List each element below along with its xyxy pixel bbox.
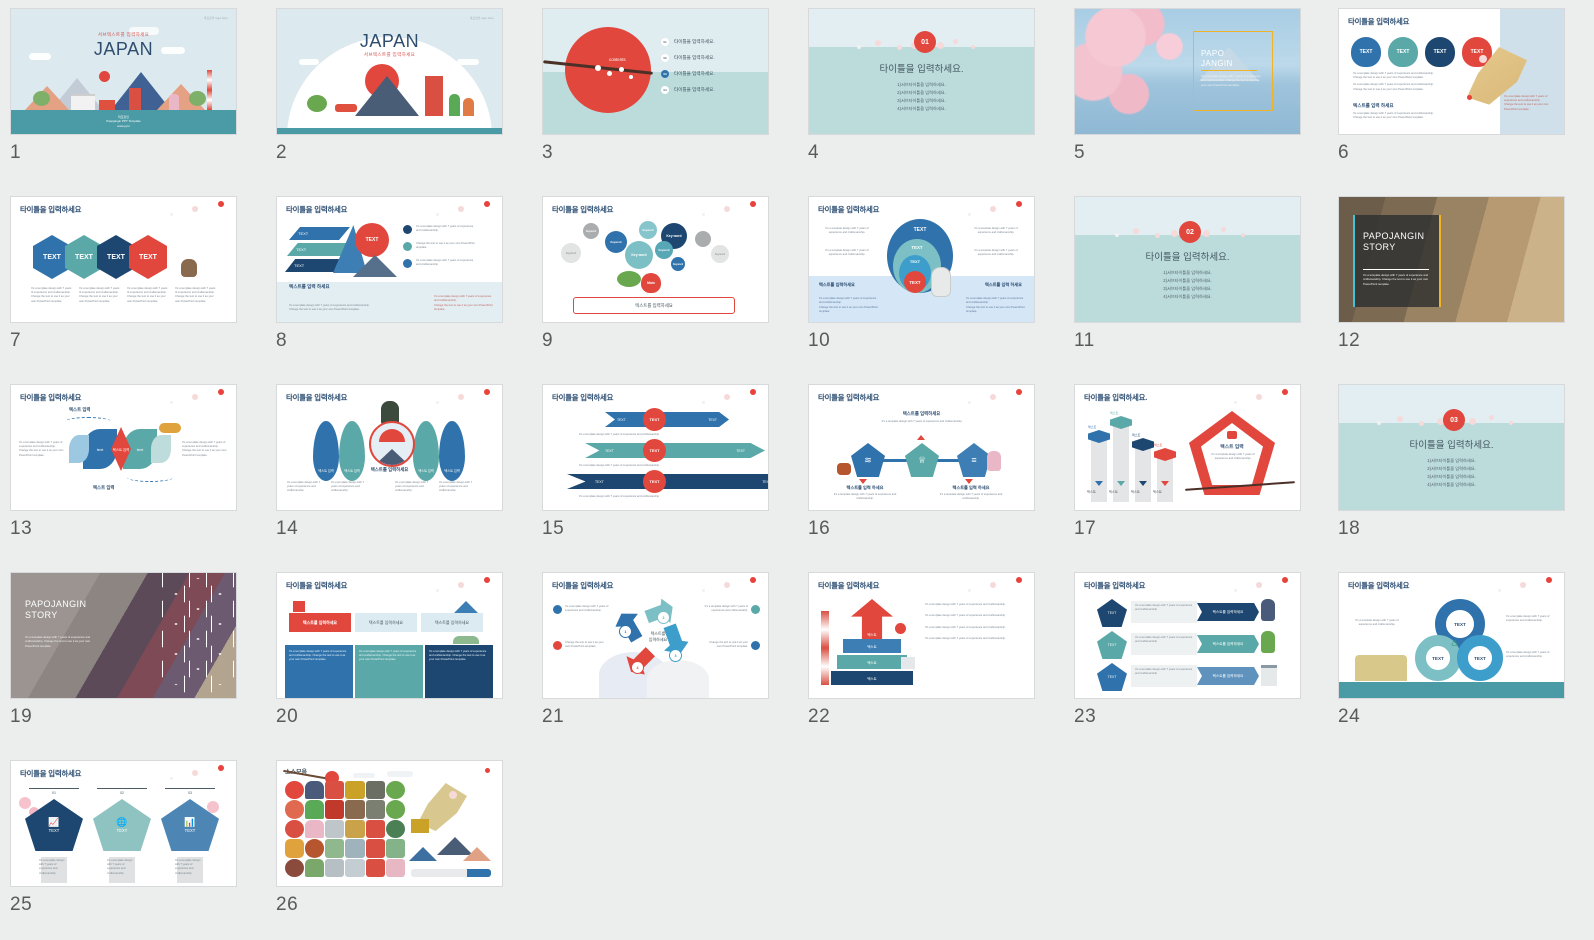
blossom-icon bbox=[953, 39, 958, 44]
recycle-icon: ♺ bbox=[1451, 639, 1458, 648]
blossom-icon bbox=[1256, 394, 1262, 400]
slide-number: 9 bbox=[542, 330, 553, 352]
blossom-icon bbox=[990, 206, 996, 212]
slide-cell-9[interactable]: 타이틀을 입력하세요 Key word Key word Keyword Key… bbox=[532, 188, 798, 376]
pentagon-badge[interactable]: TEXT bbox=[1097, 599, 1127, 627]
bullet-item: Change the text to use it as your own Po… bbox=[1353, 88, 1457, 92]
blossom-icon bbox=[436, 401, 439, 404]
pentagon-body: It's a template design with 7 years of e… bbox=[1207, 453, 1259, 461]
banner[interactable]: 텍스트를 입력하세요 bbox=[1197, 667, 1259, 685]
tab-item[interactable]: 텍스트를 입력하세요 bbox=[355, 613, 417, 632]
slide-title: 타이틀을 입력하세요 bbox=[1348, 580, 1409, 591]
torii-gate-icon bbox=[345, 781, 364, 799]
slide-number: 13 bbox=[10, 518, 32, 540]
pentagon-badge[interactable]: TEXT bbox=[1097, 663, 1127, 691]
koinobori-icon bbox=[285, 839, 304, 857]
arrow-down-icon bbox=[965, 479, 973, 484]
bullet-item: Change the text to use it as your own Po… bbox=[1504, 103, 1560, 111]
caption-item: It's a template design with 7 years of e… bbox=[79, 287, 121, 304]
blossom-cluster bbox=[152, 201, 232, 223]
blossom-icon bbox=[971, 45, 975, 49]
slide-number: 15 bbox=[542, 518, 564, 540]
castle-icon bbox=[901, 657, 915, 669]
blossom-icon bbox=[607, 71, 612, 76]
contents-item-number: 01 bbox=[661, 38, 669, 46]
blossom-icon bbox=[1221, 227, 1226, 232]
blossom-icon bbox=[990, 582, 996, 588]
bar-center-badge[interactable]: TEXT bbox=[643, 470, 666, 493]
slide-cell-5[interactable]: PAPO JANGIN It's a template design with … bbox=[1064, 0, 1330, 188]
slide-cell-21[interactable]: 타이틀을 입력하세요 1 2 3 4 텍스트를 입력하세요 It bbox=[532, 564, 798, 752]
left-item: Change the text to use it as your own Po… bbox=[553, 641, 609, 650]
blossom-icon bbox=[702, 589, 705, 592]
bullet-item: It's a template design with 7 years of e… bbox=[925, 626, 1021, 630]
cover-footer: 파포장인 Papojangin PPT Template www.pj.kr bbox=[11, 115, 236, 129]
sub-keyword-bubble[interactable]: Keyword bbox=[655, 241, 673, 259]
slide-title: 타이틀을 입력하세요 bbox=[818, 580, 879, 591]
bridge-icon bbox=[325, 820, 344, 838]
torii-gate-icon bbox=[293, 601, 305, 612]
sub-keyword-bubble[interactable]: Keyword bbox=[639, 221, 657, 239]
item-number: 02 bbox=[97, 788, 147, 795]
mountain-silhouette bbox=[647, 660, 709, 698]
contents-label: contents bbox=[609, 57, 626, 62]
daruma-icon bbox=[305, 781, 324, 799]
contents-item-number: 04 bbox=[661, 86, 669, 94]
slide-thumbnail-26[interactable]: 소스모음 bbox=[276, 760, 503, 887]
tab-item[interactable]: 텍스트를 입력하세요 bbox=[421, 613, 483, 632]
blossom-icon bbox=[484, 389, 490, 395]
cloud-icon bbox=[457, 59, 479, 65]
slide-thumbnail-1[interactable]: 파포장인 logo here 서브텍스트를 입력하세요 JAPAN 파포장인 P… bbox=[10, 8, 237, 135]
item-number: 03 bbox=[165, 788, 215, 795]
temple-icon bbox=[1355, 655, 1407, 681]
blossom-icon bbox=[1016, 389, 1022, 395]
pagoda-icon bbox=[366, 781, 385, 799]
fuji-circle-icon bbox=[285, 800, 304, 818]
caption-box[interactable]: 텍스트를 입력하세요 bbox=[573, 297, 735, 314]
photo-heading-line1: PAPO bbox=[1201, 49, 1224, 58]
slide-thumbnail-22[interactable]: 타이틀을 입력하세요 텍스트 텍스트 텍스트 텍스트 It's a templa… bbox=[808, 572, 1035, 699]
contents-item[interactable]: 04 타이틀을 입력하세요. bbox=[661, 82, 715, 98]
castle-icon bbox=[1261, 665, 1277, 686]
bullet-item: Change the text to use it as your own Po… bbox=[182, 449, 230, 457]
slide-number: 20 bbox=[276, 706, 298, 728]
blossom-icon bbox=[1234, 401, 1237, 404]
photo-heading-line1: PAPOJANGIN bbox=[25, 599, 86, 609]
pyramid-level[interactable]: 텍스트 bbox=[851, 599, 893, 641]
right-item-text: Change the text to use it as your own Po… bbox=[416, 242, 476, 250]
slide-thumbnail-18[interactable]: 03 타이틀을 입력하세요. 1)서브타이틀을 입력하세요. 2)서브타이틀을 … bbox=[1338, 384, 1565, 511]
slide-cell-20[interactable]: 타이틀을 입력하세요 텍스트를 입력하세요 텍스트를 입력하세요 텍스트를 입력… bbox=[266, 564, 532, 752]
slide-cell-24[interactable]: 타이틀을 입력하세요 TEXT TEXT TEXT ♺ It's a templ… bbox=[1328, 564, 1594, 752]
bar-note: It's a template design with 7 years of e… bbox=[579, 464, 729, 468]
blossom-icon bbox=[1419, 421, 1424, 426]
caption-item: It's a template design with 7 years of e… bbox=[127, 287, 169, 304]
slide-number: 12 bbox=[1338, 330, 1360, 352]
photo-body: It's a template design with 7 years of e… bbox=[25, 635, 97, 648]
slide-thumbnail-20[interactable]: 타이틀을 입력하세요 텍스트를 입력하세요 텍스트를 입력하세요 텍스트를 입력… bbox=[276, 572, 503, 699]
bar-left-label: TEXT bbox=[605, 449, 614, 453]
blossom-cluster bbox=[684, 577, 764, 599]
slide-cell-7[interactable]: 타이틀을 입력하세요 TEXT TEXT TEXT TEXT It's a te… bbox=[0, 188, 266, 376]
sub-keyword-bubble[interactable] bbox=[695, 231, 711, 247]
balloon-item[interactable]: TEXT bbox=[1351, 37, 1381, 67]
divider-list-item: 2)서브타이틀을 입력하세요. bbox=[1339, 465, 1564, 473]
contents-item-label: 타이틀을 입력하세요. bbox=[674, 87, 715, 93]
slide-cell-25[interactable]: 타이틀을 입력하세요 01 📈 TEXT It's a template des… bbox=[0, 752, 266, 940]
bullet-item: It's a template design with 7 years of e… bbox=[819, 297, 879, 305]
pentagon-item[interactable]: 🌐 TEXT bbox=[93, 799, 151, 851]
slide-cell-17[interactable]: 타이틀을 입력하세요. 텍스트 텍스트 텍스트 텍스트 텍스트 bbox=[1064, 376, 1330, 564]
koinobori-icon bbox=[335, 104, 357, 112]
bar-center-badge[interactable]: TEXT bbox=[643, 408, 666, 431]
torii-gate-icon bbox=[325, 781, 344, 799]
tab-item[interactable]: 텍스트를 입력하세요 bbox=[289, 613, 351, 632]
blossom-icon bbox=[1241, 233, 1245, 237]
cover-title: JAPAN bbox=[11, 39, 236, 60]
blossom-icon bbox=[458, 394, 464, 400]
divider-list-item: 1)서브타이틀을 입력하세요. bbox=[1075, 269, 1300, 277]
temple-icon bbox=[411, 819, 429, 833]
slide-thumbnail-24[interactable]: 타이틀을 입력하세요 TEXT TEXT TEXT ♺ It's a templ… bbox=[1338, 572, 1565, 699]
right-items: It's a template design with 7 years of e… bbox=[403, 225, 476, 268]
slide-cell-2[interactable]: 파포장인 logo here JAPAN 서브텍스트를 입력하세요 2 bbox=[266, 0, 532, 188]
slide-thumbnail-13[interactable]: 타이틀을 입력하세요 텍스트 입력 text text 텍스트 입력 텍스트 입… bbox=[10, 384, 237, 511]
fountain-icon bbox=[345, 839, 364, 857]
slide-thumbnail-12[interactable]: PAPOJANGIN STORY It's a template design … bbox=[1338, 196, 1565, 323]
blossom-icon bbox=[724, 582, 730, 588]
mount-fuji-icon bbox=[375, 449, 409, 465]
bullet-item: It's a template design with 7 years of e… bbox=[925, 603, 1021, 607]
castle-icon bbox=[345, 859, 364, 877]
blossom-icon bbox=[750, 389, 756, 395]
slide-cell-16[interactable]: 타이틀을 입력하세요 텍스트를 입력하세요 It's a template de… bbox=[798, 376, 1064, 564]
divider-list-item: 3)서브타이틀을 입력하세요. bbox=[1075, 285, 1300, 293]
doll-icon bbox=[1261, 631, 1275, 653]
sub-keyword-bubble[interactable]: Keyword bbox=[561, 243, 581, 263]
pyramid-level[interactable]: 텍스트 bbox=[837, 655, 907, 669]
sun-dot bbox=[895, 623, 906, 634]
sub-keyword-bubble[interactable]: Keyword bbox=[671, 257, 685, 271]
slide-cell-18[interactable]: 03 타이틀을 입력하세요. 1)서브타이틀을 입력하세요. 2)서브타이틀을 … bbox=[1328, 376, 1594, 564]
slide-thumbnail-7[interactable]: 타이틀을 입력하세요 TEXT TEXT TEXT TEXT It's a te… bbox=[10, 196, 237, 323]
mount-fuji-icon bbox=[353, 255, 397, 277]
slide-cell-23[interactable]: 타이틀을 입력하세요 TEXT It's a template design w… bbox=[1064, 564, 1330, 752]
calendar-icon bbox=[553, 641, 562, 650]
slide-cell-3[interactable]: contents 01 타이틀을 입력하세요. 02 타이틀을 입력하세요. 0… bbox=[532, 0, 798, 188]
divider-title: 타이틀을 입력하세요. bbox=[1075, 249, 1300, 263]
blossom-icon bbox=[1498, 589, 1501, 592]
left-bullet: It's a template design with 7 years of e… bbox=[821, 249, 873, 257]
cloud-icon bbox=[353, 773, 375, 778]
divider-title: 타이틀을 입력하세요. bbox=[1339, 437, 1564, 451]
slide-title: 타이틀을 입력하세요 bbox=[552, 580, 613, 591]
slide-thumbnail-6[interactable]: 타이틀을 입력하세요 TEXT TEXT TEXT TEXT It's a te… bbox=[1338, 8, 1565, 135]
slide-number: 5 bbox=[1074, 142, 1085, 164]
note-box: It's a template design with 7 years of e… bbox=[1131, 665, 1197, 687]
keyword-bubble[interactable]: Key word bbox=[625, 241, 653, 269]
axis-label: 텍스트 bbox=[1131, 489, 1140, 494]
flow-arrow-bottom bbox=[127, 473, 173, 482]
slide-thumbnail-11[interactable]: 02 타이틀을 입력하세요. 1)서브타이틀을 입력하세요. 2)서브타이틀을 … bbox=[1074, 196, 1301, 323]
note-text: It's a template design with 7 years of e… bbox=[107, 859, 137, 876]
divider-list-item: 1)서브타이틀을 입력하세요. bbox=[1339, 457, 1564, 465]
shrine-icon bbox=[325, 800, 344, 818]
blossom-icon bbox=[1203, 230, 1210, 237]
tokyo-tower-icon bbox=[821, 611, 829, 685]
photo-heading: PAPO JANGIN bbox=[1201, 49, 1233, 69]
slide-cell-26[interactable]: 소스모음 bbox=[266, 752, 532, 940]
slide-number: 6 bbox=[1338, 142, 1349, 164]
tree-icon bbox=[386, 781, 405, 799]
left-body: It's a template design with 7 years of e… bbox=[827, 493, 903, 501]
top-body: It's a template design with 7 years of e… bbox=[875, 420, 969, 424]
bar-row[interactable]: TEXT TEXT bbox=[605, 412, 729, 427]
slide-cell-4[interactable]: 01 타이틀을 입력하세요. 1)서브타이틀을 입력하세요. 2)서브타이틀을 … bbox=[798, 0, 1064, 188]
right-body: It's a template design with 7 years of e… bbox=[931, 493, 1011, 501]
target-icon bbox=[403, 225, 412, 234]
chart-value-label: 텍스트 bbox=[1154, 443, 1162, 447]
bullet-item: It's a template design with 7 years of e… bbox=[331, 481, 371, 494]
pentagon-node[interactable]: ♕ bbox=[905, 443, 939, 477]
nested-circle[interactable]: TEXT bbox=[904, 271, 926, 293]
blossom-cluster bbox=[950, 577, 1030, 599]
column-text: It's a template design with 7 years of e… bbox=[355, 645, 423, 667]
balloon-item[interactable]: TEXT bbox=[1388, 37, 1418, 67]
slide-cell-11[interactable]: 02 타이틀을 입력하세요. 1)서브타이틀을 입력하세요. 2)서브타이틀을 … bbox=[1064, 188, 1330, 376]
slide-thumbnail-23[interactable]: 타이틀을 입력하세요 TEXT It's a template design w… bbox=[1074, 572, 1301, 699]
blossom-icon bbox=[1016, 577, 1022, 583]
slide-thumbnail-5[interactable]: PAPO JANGIN It's a template design with … bbox=[1074, 8, 1301, 135]
tea-pot-icon bbox=[305, 839, 324, 857]
arrow-down-icon bbox=[1117, 481, 1125, 486]
blossom-icon bbox=[1469, 418, 1476, 425]
top-label: 텍스트 입력 bbox=[69, 407, 90, 413]
right-bullet: It's a template design with 7 years of e… bbox=[970, 249, 1022, 257]
daruma-icon bbox=[181, 259, 197, 277]
mountain-icon bbox=[463, 847, 491, 861]
pentagon-node[interactable]: ≋ bbox=[851, 443, 885, 477]
tokyo-tower-icon bbox=[207, 70, 212, 110]
slide-title: 타이틀을 입력하세요 bbox=[818, 392, 879, 403]
blossom-icon bbox=[875, 40, 881, 46]
cherry-branch-icon bbox=[386, 859, 405, 877]
blossom-icon bbox=[1520, 582, 1526, 588]
slide-thumbnail-4[interactable]: 01 타이틀을 입력하세요. 1)서브타이틀을 입력하세요. 2)서브타이틀을 … bbox=[808, 8, 1035, 135]
blossom-icon bbox=[436, 213, 439, 216]
axis-label: 텍스트 bbox=[1153, 489, 1162, 494]
slide-thumbnail-10[interactable]: 타이틀을 입력하세요 TEXT TEXT TEXT TEXT It's a te… bbox=[808, 196, 1035, 323]
island-temple-icon bbox=[325, 839, 344, 857]
slide-thumbnail-19[interactable]: PAPOJANGIN STORY It's a template design … bbox=[10, 572, 237, 699]
blossom-icon bbox=[1171, 230, 1178, 237]
banner[interactable]: 텍스트를 입력하세요 bbox=[1197, 603, 1259, 621]
blossom-cluster bbox=[152, 389, 232, 411]
blossom-cluster bbox=[1216, 577, 1296, 599]
note-text: It's a template design with 7 years of e… bbox=[39, 859, 69, 876]
right-item: Change the text to use it as your own Po… bbox=[704, 641, 760, 650]
slide-cell-14[interactable]: 타이틀을 입력하세요 텍스트 입력 텍스트 입력 텍스트 입력 텍스트 입력 텍… bbox=[266, 376, 532, 564]
pentagon-node[interactable]: ≡ bbox=[957, 443, 991, 477]
kokeshi-doll-icon bbox=[931, 267, 951, 297]
caption-panel bbox=[1355, 215, 1439, 307]
sub-keyword-bubble[interactable]: Keyword bbox=[605, 231, 627, 253]
column-text: It's a template design with 7 years of e… bbox=[425, 645, 493, 667]
slide-thumbnail-8[interactable]: 타이틀을 입력하세요 TEXT TEXT TEXT TEXT It's a te… bbox=[276, 196, 503, 323]
blossom-icon bbox=[702, 401, 705, 404]
center-label: 텍스트를 입력하세요 bbox=[635, 631, 681, 643]
divider-title: 타이틀을 입력하세요. bbox=[809, 61, 1034, 75]
photo-heading-line1: PAPOJANGIN bbox=[1363, 231, 1424, 241]
divider-list: 1)서브타이틀을 입력하세요. 2)서브타이틀을 입력하세요. 3)서브타이틀을… bbox=[1075, 269, 1300, 301]
slide-thumbnail-15[interactable]: 타이틀을 입력하세요 TEXT TEXT TEXT It's a templat… bbox=[542, 384, 769, 511]
bullet-item: It's a template design with 7 years of e… bbox=[925, 614, 1021, 618]
bullet-item: Change the text to use it as your own Po… bbox=[966, 306, 1026, 314]
left-item-text: Change the text to use it as your own Po… bbox=[565, 641, 609, 650]
slide-thumbnail-2[interactable]: 파포장인 logo here JAPAN 서브텍스트를 입력하세요 bbox=[276, 8, 503, 135]
photo-heading-line2: STORY bbox=[25, 610, 58, 620]
slide-cell-12[interactable]: PAPOJANGIN STORY It's a template design … bbox=[1328, 188, 1594, 376]
photo-body: It's a template design with 7 years of e… bbox=[1201, 74, 1263, 87]
note-text: It's a template design with 7 years of e… bbox=[1131, 633, 1197, 647]
slide-cell-15[interactable]: 타이틀을 입력하세요 TEXT TEXT TEXT It's a templat… bbox=[532, 376, 798, 564]
blossom-icon bbox=[702, 213, 705, 216]
pagoda-icon bbox=[129, 88, 141, 110]
blossom-icon bbox=[218, 201, 224, 207]
slide-thumbnail-17[interactable]: 타이틀을 입력하세요. 텍스트 텍스트 텍스트 텍스트 텍스트 bbox=[1074, 384, 1301, 511]
slide-title: 타이틀을 입력하세요 bbox=[286, 204, 347, 215]
chart-value-label: 텍스트 bbox=[1132, 433, 1140, 437]
ring[interactable]: TEXT bbox=[1457, 635, 1503, 681]
arrow-down-icon bbox=[1161, 481, 1169, 486]
divider-line bbox=[1201, 70, 1257, 71]
divider-list-item: 4)서브타이틀을 입력하세요. bbox=[1075, 293, 1300, 301]
geisha-icon bbox=[169, 94, 179, 110]
sun-circle[interactable]: TEXT bbox=[355, 223, 389, 257]
pentagon-badge[interactable]: TEXT bbox=[1097, 631, 1127, 659]
divider-list: 1)서브타이틀을 입력하세요. 2)서브타이틀을 입력하세요. 3)서브타이틀을… bbox=[1339, 457, 1564, 489]
bar-row[interactable]: TEXT TEXT bbox=[585, 443, 765, 458]
bar-chart-icon: 📊 bbox=[184, 817, 195, 828]
slide-cell-10[interactable]: 타이틀을 입력하세요 TEXT TEXT TEXT TEXT It's a te… bbox=[798, 188, 1064, 376]
balloon-item[interactable]: TEXT bbox=[1425, 37, 1455, 67]
step-badge: 4 bbox=[631, 661, 644, 674]
chart-value-label: 텍스트 bbox=[1110, 411, 1118, 415]
slide-thumbnail-16[interactable]: 타이틀을 입력하세요 텍스트를 입력하세요 It's a template de… bbox=[808, 384, 1035, 511]
accent-bar-cyan bbox=[1353, 215, 1355, 307]
sea-band bbox=[277, 128, 502, 134]
slide-thumbnail-9[interactable]: 타이틀을 입력하세요 Key word Key word Keyword Key… bbox=[542, 196, 769, 323]
contents-item[interactable]: 01 타이틀을 입력하세요. bbox=[661, 34, 715, 50]
bar-note: It's a template design with 7 years of e… bbox=[579, 433, 729, 437]
pyramid-level[interactable]: 텍스트 bbox=[843, 639, 901, 653]
bar-right-label: TEXT bbox=[736, 449, 745, 453]
layer-item[interactable]: TEXT bbox=[289, 227, 350, 240]
main-bubble[interactable]: Main bbox=[641, 273, 661, 293]
sub-keyword-bubble[interactable]: Keyword bbox=[583, 223, 599, 239]
contents-item[interactable]: 03 타이틀을 입력하세요. bbox=[661, 66, 715, 82]
blossom-cluster bbox=[152, 765, 232, 787]
search-icon bbox=[403, 259, 412, 268]
bar-left-label: TEXT bbox=[595, 480, 604, 484]
caption: 텍스트를 입력하세요 bbox=[277, 467, 502, 473]
slide-number: 4 bbox=[808, 142, 819, 164]
slide-title: 타이틀을 입력하세요 bbox=[818, 204, 879, 215]
flow-arrow-top bbox=[65, 417, 111, 426]
step-badge: 3 bbox=[669, 649, 682, 662]
footer-line-3: www.pj.kr bbox=[117, 124, 130, 128]
slide-number: 22 bbox=[808, 706, 830, 728]
column-block: It's a template design with 7 years of e… bbox=[425, 645, 493, 698]
section-badge: 02 bbox=[1179, 221, 1201, 243]
sub-keyword-bubble[interactable]: Keyword bbox=[711, 245, 729, 263]
bullet-item: It's a template design with 7 years of e… bbox=[395, 481, 435, 494]
divider-list: 1)서브타이틀을 입력하세요. 2)서브타이틀을 입력하세요. 3)서브타이틀을… bbox=[809, 81, 1034, 113]
blossom-icon bbox=[619, 67, 624, 72]
contents-item-number: 03 bbox=[661, 70, 669, 78]
pyramid-level[interactable]: 텍스트 bbox=[831, 671, 913, 685]
bar-center-badge[interactable]: TEXT bbox=[643, 439, 666, 462]
blossom-icon bbox=[484, 201, 490, 207]
blossom-cluster bbox=[950, 389, 1030, 411]
center-label-line2: 입력하세요 bbox=[649, 637, 667, 642]
axis-label: 텍스트 bbox=[1109, 489, 1118, 494]
blossom-cluster bbox=[684, 201, 764, 223]
left-item: It's a template design with 7 years of e… bbox=[553, 605, 609, 614]
top-heading: 텍스트를 입력하세요 bbox=[809, 411, 1034, 417]
divider-list-item: 3)서브타이틀을 입력하세요. bbox=[1339, 473, 1564, 481]
slide-cell-19[interactable]: PAPOJANGIN STORY It's a template design … bbox=[0, 564, 266, 752]
slide-cell-6[interactable]: 타이틀을 입력하세요 TEXT TEXT TEXT TEXT It's a te… bbox=[1328, 0, 1594, 188]
bullet-item: Change the text to use it as your own Po… bbox=[19, 449, 67, 457]
slide-cell-13[interactable]: 타이틀을 입력하세요 텍스트 입력 text text 텍스트 입력 텍스트 입… bbox=[0, 376, 266, 564]
blossom-icon bbox=[485, 768, 490, 773]
section-badge: 03 bbox=[1443, 409, 1465, 431]
blossom-icon bbox=[897, 45, 902, 50]
corner-note: 파포장인 logo here bbox=[470, 16, 494, 20]
slide-thumbnail-14[interactable]: 타이틀을 입력하세요 텍스트 입력 텍스트 입력 텍스트 입력 텍스트 입력 텍… bbox=[276, 384, 503, 511]
slide-cell-8[interactable]: 타이틀을 입력하세요 TEXT TEXT TEXT TEXT It's a te… bbox=[266, 188, 532, 376]
hexagon-label: TEXT bbox=[75, 254, 93, 261]
divider-list-item: 4)서브타이틀을 입력하세요. bbox=[809, 105, 1034, 113]
koinobori-icon bbox=[159, 423, 181, 433]
slide-title: 타이틀을 입력하세요 bbox=[286, 392, 347, 403]
slide-title: 타이틀을 입력하세요 bbox=[286, 580, 347, 591]
slide-cell-22[interactable]: 타이틀을 입력하세요 텍스트 텍스트 텍스트 텍스트 It's a templa… bbox=[798, 564, 1064, 752]
rising-sun-icon bbox=[285, 781, 304, 799]
center-circle[interactable] bbox=[369, 421, 415, 467]
bar-row[interactable]: TEXT TEXT bbox=[567, 474, 769, 489]
sub-heading: 텍스트를 입력 하세요 bbox=[289, 284, 330, 290]
slide-thumbnail-gallery: 파포장인 logo here 서브텍스트를 입력하세요 JAPAN 파포장인 P… bbox=[0, 0, 1594, 940]
pagoda-icon bbox=[366, 800, 385, 818]
contents-item[interactable]: 02 타이틀을 입력하세요. bbox=[661, 50, 715, 66]
banner[interactable]: 텍스트를 입력하세요 bbox=[1197, 635, 1259, 653]
divider-line bbox=[1363, 269, 1429, 270]
photo-heading-line2: STORY bbox=[1363, 242, 1396, 252]
slide-thumbnail-3[interactable]: contents 01 타이틀을 입력하세요. 02 타이틀을 입력하세요. 0… bbox=[542, 8, 769, 135]
blossom-icon bbox=[1133, 228, 1139, 234]
arrow-down-icon bbox=[859, 479, 867, 484]
slide-cell-1[interactable]: 파포장인 logo here 서브텍스트를 입력하세요 JAPAN 파포장인 P… bbox=[0, 0, 266, 188]
hexagon-item[interactable]: TEXT bbox=[129, 235, 167, 279]
slide-thumbnail-21[interactable]: 타이틀을 입력하세요 1 2 3 4 텍스트를 입력하세요 It bbox=[542, 572, 769, 699]
slide-thumbnail-25[interactable]: 타이틀을 입력하세요 01 📈 TEXT It's a template des… bbox=[10, 760, 237, 887]
column-block: It's a template design with 7 years of e… bbox=[355, 645, 423, 698]
blossom-icon bbox=[170, 401, 173, 404]
blossom-icon bbox=[218, 389, 224, 395]
